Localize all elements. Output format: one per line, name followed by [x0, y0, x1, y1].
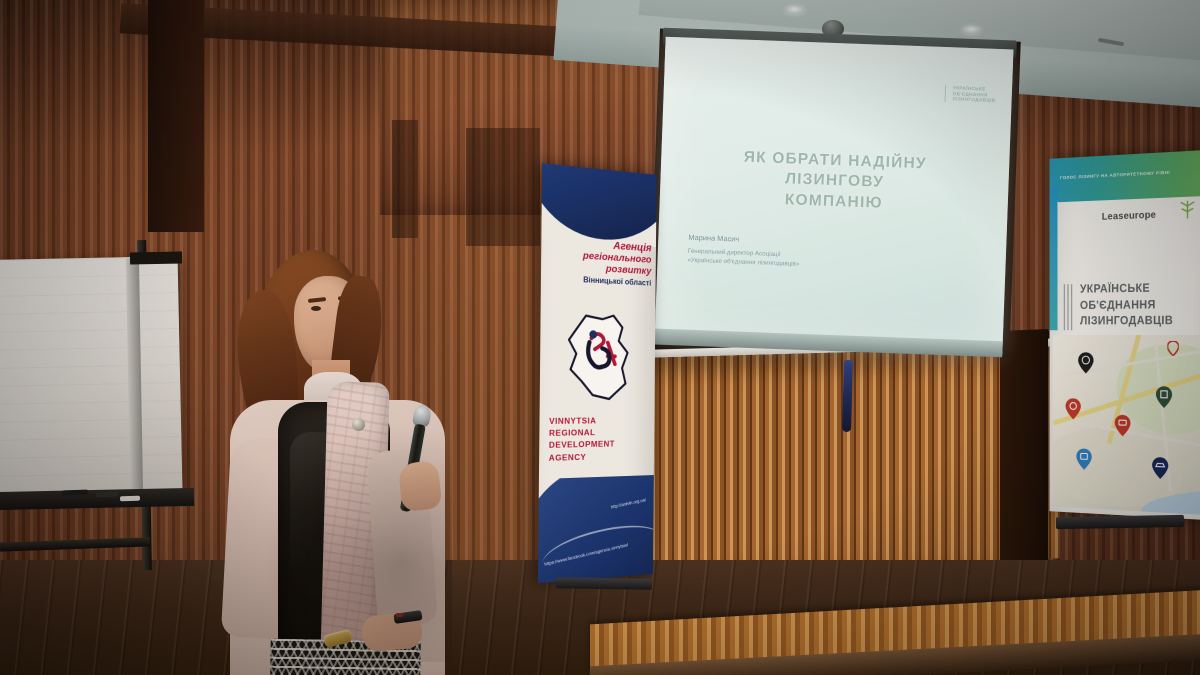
banner-left-accent-bar	[1049, 187, 1057, 330]
wall-dark-gap-right	[466, 128, 540, 246]
flipchart-paper	[0, 256, 182, 494]
banner-title-line-3: ЛІЗИНГОДАВЦІВ	[1080, 314, 1173, 331]
projection-screen: УКРАЇНСЬКЕ ОБ'ЄДНАННЯ ЛІЗИНГОДАВЦІВ ЯК О…	[655, 37, 1014, 355]
marker-pen	[62, 490, 88, 496]
recessed-downlight	[785, 6, 804, 14]
wall-dark-gap-left	[148, 0, 204, 232]
presenter-remote-button	[396, 613, 403, 617]
map-pin-camera	[1066, 398, 1081, 419]
rollup-banner-vinnytsia-agency: Агенція регіонального розвитку Вінницько…	[538, 163, 657, 583]
banner-top-arc	[541, 163, 656, 247]
left-banner-stand	[556, 577, 652, 590]
marker-pen	[120, 496, 140, 502]
flipchart-paper-texture	[0, 256, 182, 494]
slide-logo-line-3: ЛІЗИНГОДАВЦІВ	[952, 97, 995, 104]
wall-corner-shadow	[1000, 329, 1048, 581]
map-pin-small	[1167, 341, 1179, 356]
marker-pen	[96, 492, 118, 498]
wall-dark-gap-mid	[392, 120, 418, 238]
banner-decorative-bars	[1064, 284, 1074, 330]
banner-en-line-4: AGENCY	[549, 449, 648, 463]
slide-title: ЯК ОБРАТИ НАДІЙНУ ЛІЗИНГОВУ КОМПАНІЮ	[659, 145, 1009, 219]
recessed-downlight	[962, 26, 981, 34]
map-pin-clock	[1078, 352, 1093, 373]
banner-ua-title: Агенція регіонального розвитку Вінницько…	[549, 236, 652, 288]
leaseurope-wordmark: Leaseurope	[1102, 210, 1156, 223]
flipchart-clip	[130, 252, 182, 265]
slide-speaker-name: Марина Масич	[688, 233, 800, 248]
map-pin-info	[1076, 448, 1091, 470]
leaseurope-leaf-icon	[1177, 198, 1198, 221]
banner-map-graphic	[1053, 335, 1200, 515]
banner-website-url: http://ardvin.org.ua/	[611, 497, 647, 509]
rollup-banner-leasing-association: ГОЛОС ЛІЗИНГУ НА АВТОРИТЕТНОМУ РІВНІ Lea…	[1049, 150, 1200, 520]
slide-speaker-block: Марина Масич Генеральний директор Асоціа…	[687, 233, 800, 270]
presenter-woman	[212, 232, 472, 675]
lower-wood-slat-wall	[648, 346, 1060, 570]
right-banner-stand	[1056, 515, 1184, 529]
banner-title: УКРАЇНСЬКЕ ОБ'ЄДНАННЯ ЛІЗИНГОДАВЦІВ	[1080, 281, 1173, 331]
map-pin-shield	[1156, 386, 1172, 408]
brooch-pendant	[352, 418, 365, 431]
banner-bottom-arc: http://ardvin.org.ua/ https://www.facebo…	[538, 475, 654, 583]
conference-photo-scene: УКРАЇНСЬКЕ ОБ'ЄДНАННЯ ЛІЗИНГОДАВЦІВ ЯК О…	[0, 0, 1200, 675]
banner-title-line-1: УКРАЇНСЬКЕ	[1080, 281, 1173, 299]
vinnytsia-oblast-map-emblem-icon	[561, 312, 635, 403]
banner-title-line-2: ОБ'ЄДНАННЯ	[1080, 297, 1173, 314]
banner-en-title: VINNYTSIA REGIONAL DEVELOPMENT AGENCY	[549, 414, 649, 463]
map-pin-car	[1115, 415, 1131, 437]
eye-left	[311, 306, 321, 311]
slide-corner-logo: УКРАЇНСЬКЕ ОБ'ЄДНАННЯ ЛІЗИНГОДАВЦІВ	[944, 85, 996, 104]
hand-holding-microphone	[398, 460, 443, 512]
map-pin-vehicle	[1152, 457, 1168, 479]
screen-surface: УКРАЇНСЬКЕ ОБ'ЄДНАННЯ ЛІЗИНГОДАВЦІВ ЯК О…	[655, 37, 1014, 355]
hanging-object	[842, 360, 853, 432]
